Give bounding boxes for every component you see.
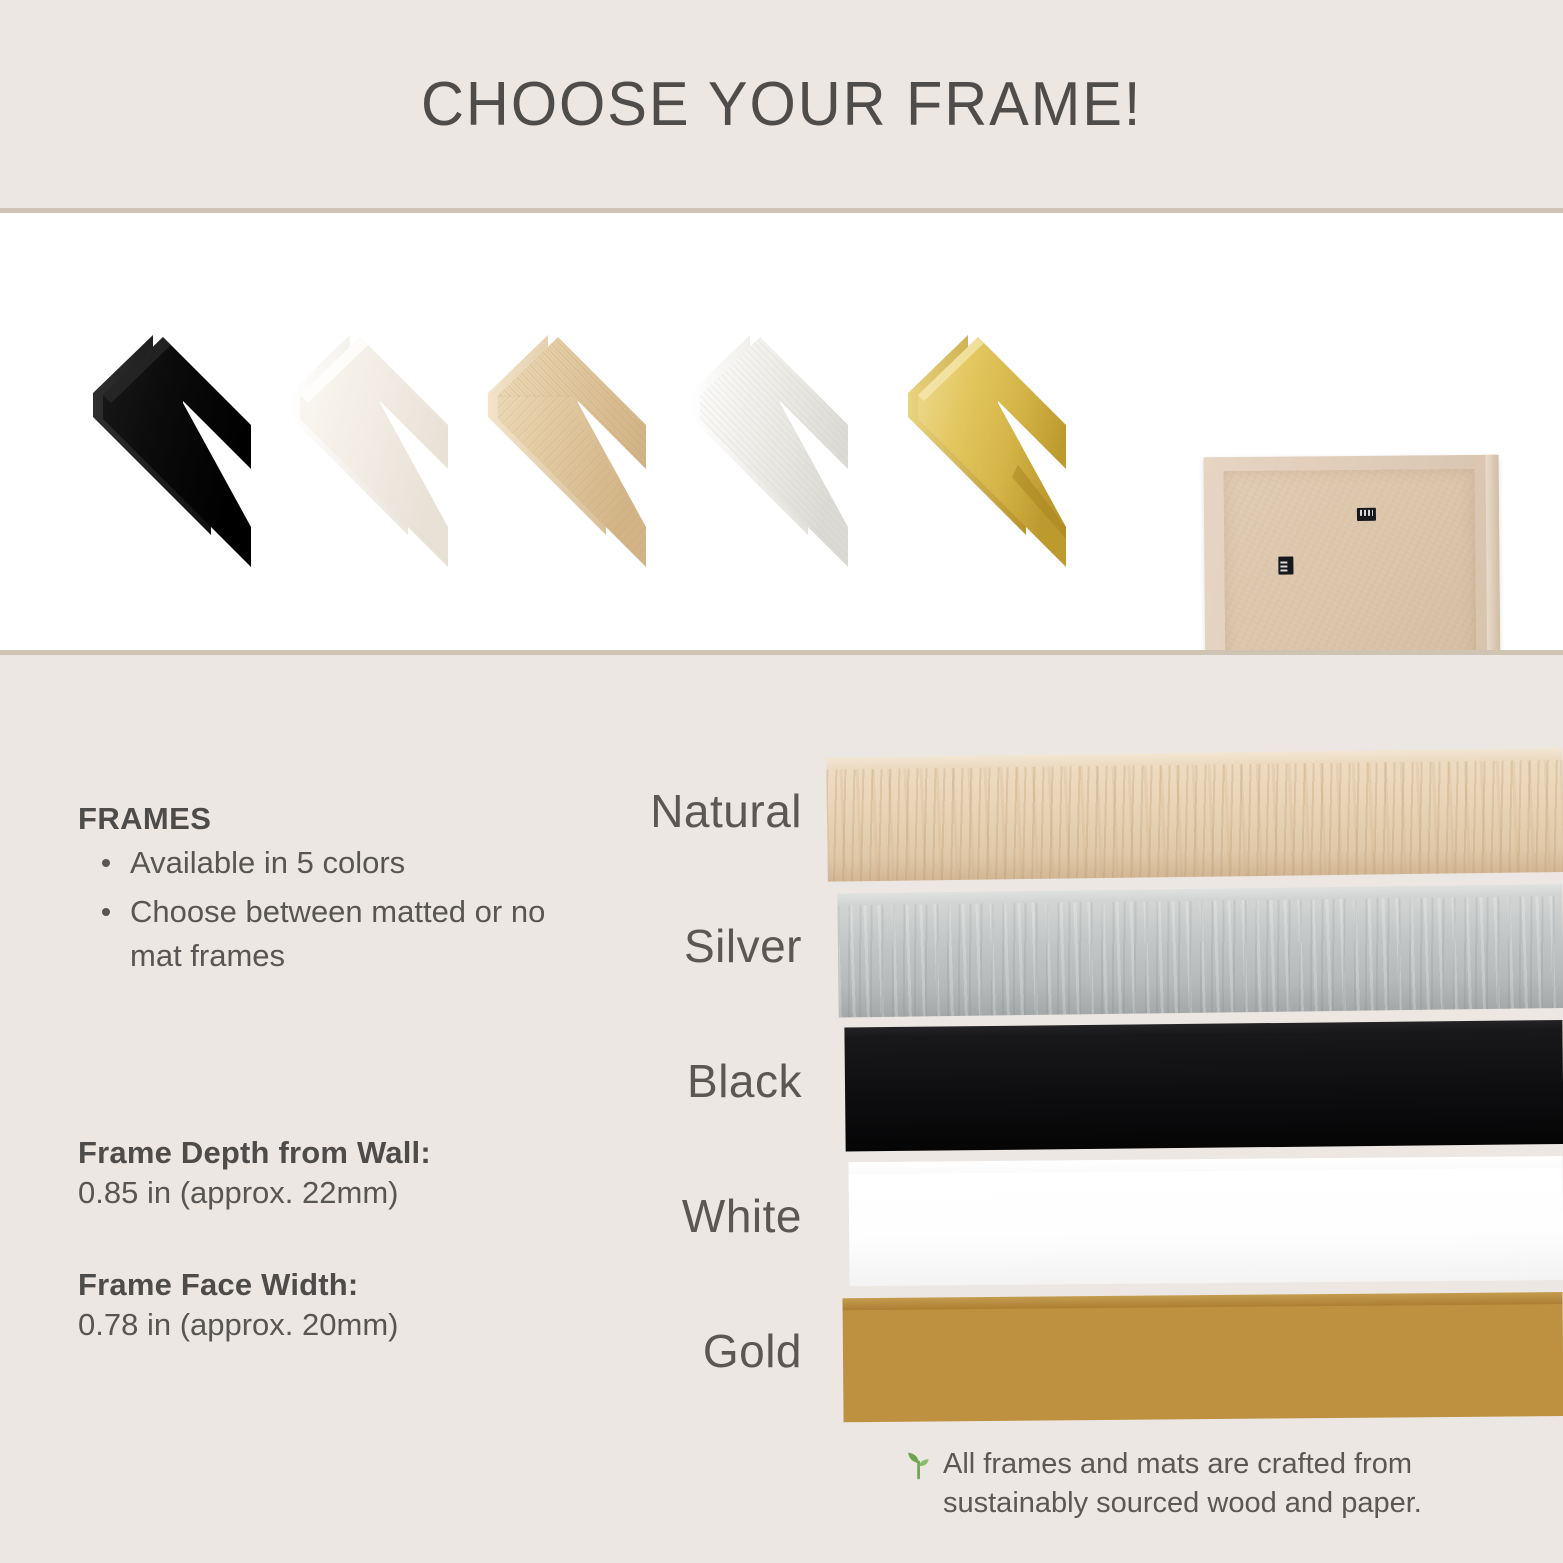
profile-bar-face — [837, 896, 1563, 1017]
white-frame-corner[interactable] — [272, 295, 482, 595]
frame-face-width-spec: Frame Face Width: 0.78 in (approx. 20mm) — [78, 1267, 598, 1343]
sprout-icon — [905, 1450, 933, 1485]
sustainability-text: All frames and mats are crafted from sus… — [943, 1445, 1505, 1523]
profile-bar-white[interactable] — [848, 1156, 1563, 1286]
black-frame-corner[interactable] — [75, 295, 285, 595]
page-title: CHOOSE YOUR FRAME! — [421, 69, 1142, 140]
header-banner: CHOOSE YOUR FRAME! — [0, 0, 1563, 208]
frame-depth-value: 0.85 in (approx. 22mm) — [78, 1175, 598, 1211]
frame-depth-label: Frame Depth from Wall: — [78, 1135, 598, 1171]
frames-info-block: FRAMES Available in 5 colors Choose betw… — [78, 801, 578, 983]
gold-frame-corner[interactable] — [890, 295, 1100, 595]
frames-feature-list: Available in 5 colors Choose between mat… — [78, 841, 578, 978]
details-section: FRAMES Available in 5 colors Choose betw… — [0, 655, 1563, 1563]
swatch-label-black: Black — [540, 1013, 802, 1148]
hanging-hardware-icon — [1278, 557, 1293, 575]
swatch-label-silver: Silver — [540, 878, 802, 1013]
profile-bar-face — [849, 1168, 1563, 1286]
profile-bar-face — [843, 1304, 1563, 1422]
swatch-label-gold: Gold — [540, 1283, 802, 1418]
swatch-label-column: Natural Silver Black White Gold — [540, 743, 802, 1418]
silver-frame-corner[interactable] — [672, 295, 882, 595]
frames-heading: FRAMES — [78, 801, 578, 837]
list-item: Choose between matted or no mat frames — [130, 890, 578, 978]
swatch-label-white: White — [540, 1148, 802, 1283]
swatch-label-natural: Natural — [540, 743, 802, 878]
profile-bar-black[interactable] — [844, 1020, 1563, 1152]
profile-bar-face — [845, 1032, 1563, 1152]
sustainability-note: All frames and mats are crafted from sus… — [905, 1445, 1505, 1523]
natural-frame-corner[interactable] — [470, 295, 680, 595]
profile-bar-face — [826, 760, 1563, 882]
profile-bar-silver[interactable] — [837, 884, 1563, 1017]
hanging-hardware-icon — [1357, 508, 1376, 521]
frame-face-width-value: 0.78 in (approx. 20mm) — [78, 1307, 598, 1343]
profile-bar-natural[interactable] — [826, 748, 1563, 882]
profile-bar-gold[interactable] — [842, 1292, 1563, 1422]
frame-face-width-label: Frame Face Width: — [78, 1267, 598, 1303]
frame-corner-strip — [0, 213, 1563, 650]
list-item: Available in 5 colors — [130, 841, 578, 885]
frame-depth-spec: Frame Depth from Wall: 0.85 in (approx. … — [78, 1135, 598, 1211]
